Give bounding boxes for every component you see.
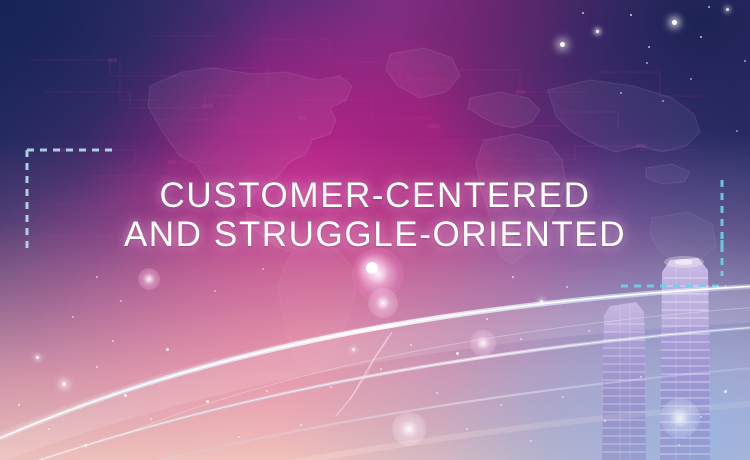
star-particles [0, 0, 750, 460]
hero-banner: CUSTOMER-CENTERED AND STRUGGLE-ORIENTED [0, 0, 750, 460]
